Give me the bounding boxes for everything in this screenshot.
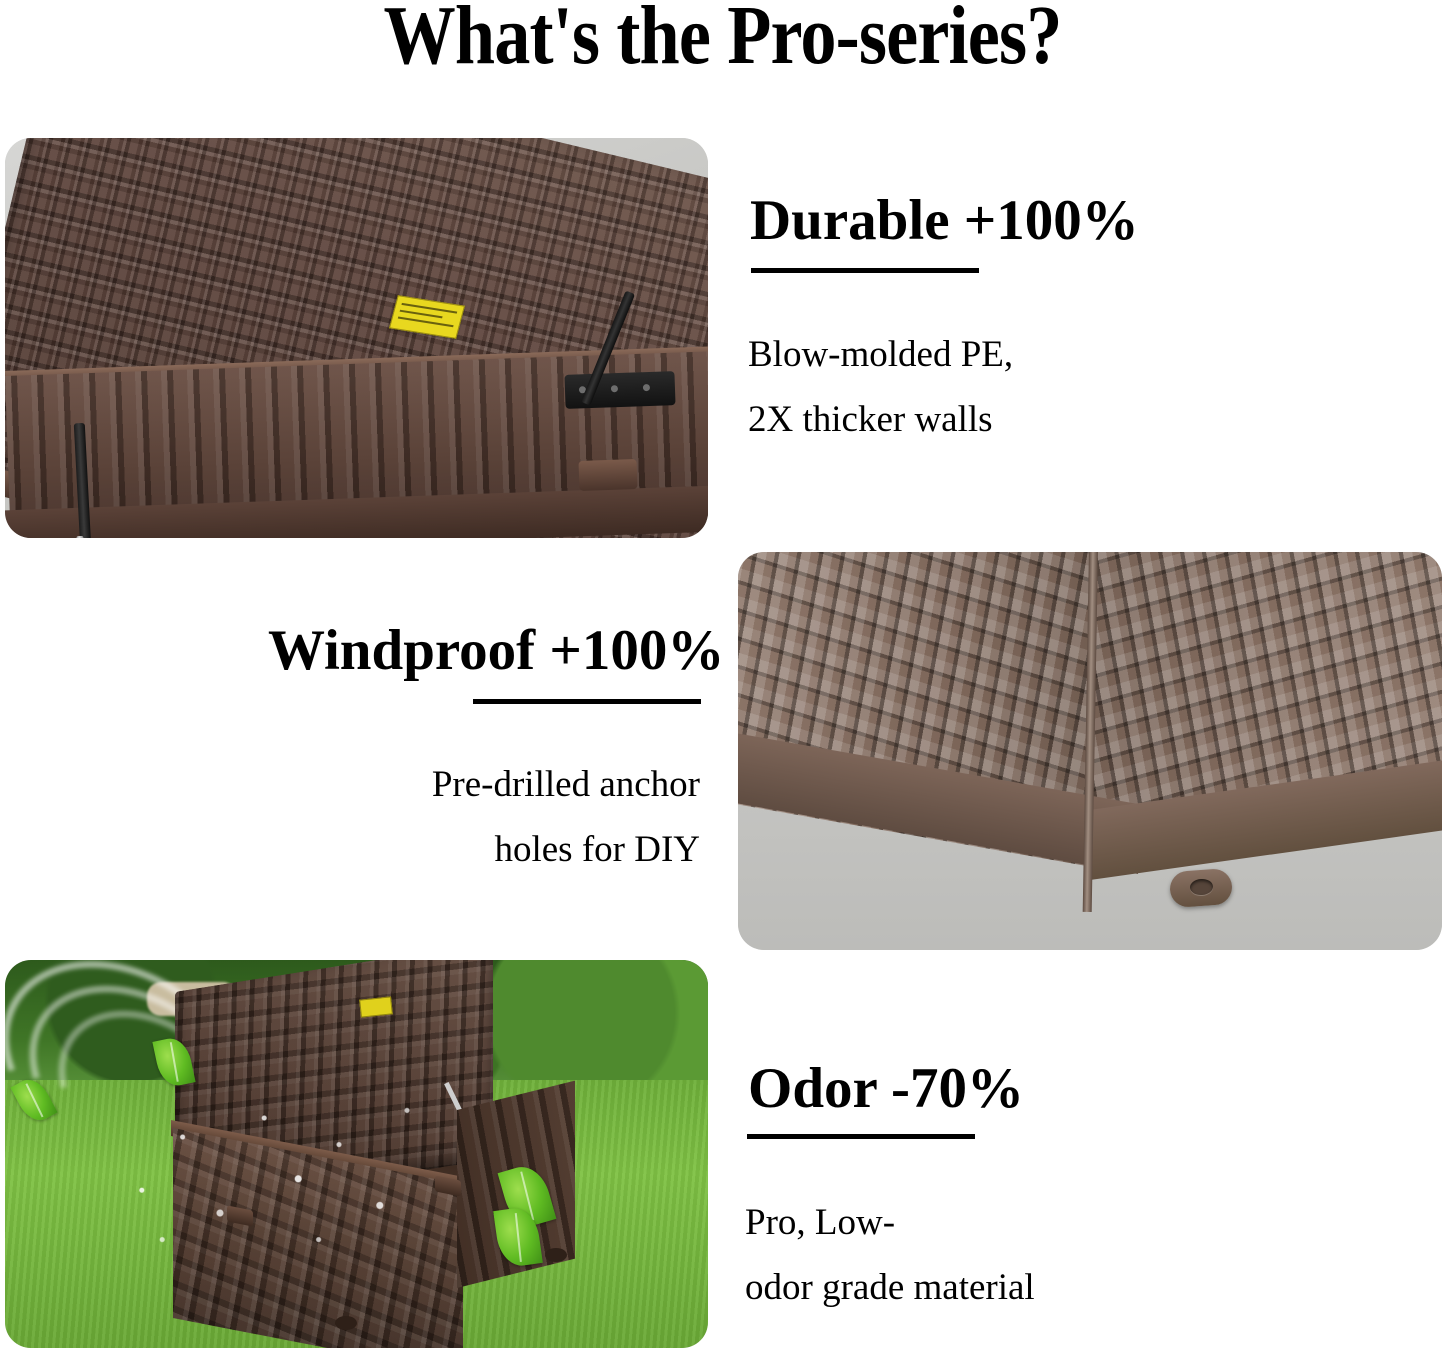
odor-heading: Odor -70% <box>748 1060 1024 1117</box>
windproof-underline-rule <box>473 699 701 704</box>
windproof-heading: Windproof +100% <box>268 622 724 679</box>
durable-underline-rule <box>751 268 979 273</box>
box-wheel <box>545 1248 567 1262</box>
page-title: What's the Pro-series? <box>101 0 1344 78</box>
hinge-bolt <box>611 385 618 392</box>
durable-heading: Durable +100% <box>750 192 1139 249</box>
lid-hinge <box>564 371 675 409</box>
odor-underline-rule <box>747 1134 975 1139</box>
odor-body-text: Pro, Low- odor grade material <box>745 1190 1035 1320</box>
windproof-body-text: Pre-drilled anchor holes for DIY <box>300 752 700 882</box>
box-latch <box>578 459 637 491</box>
photo-durable-lid <box>5 138 708 538</box>
warning-sticker-icon <box>359 996 393 1017</box>
odor-particles <box>101 1080 441 1270</box>
photo-odor-lawn <box>5 960 708 1348</box>
photo-windproof-corner <box>738 552 1442 950</box>
warning-text-line <box>398 317 454 328</box>
hinge-bolt <box>643 384 650 391</box>
box-wheel <box>335 1316 357 1330</box>
durable-body-text: Blow-molded PE, 2X thicker walls <box>748 322 1013 452</box>
